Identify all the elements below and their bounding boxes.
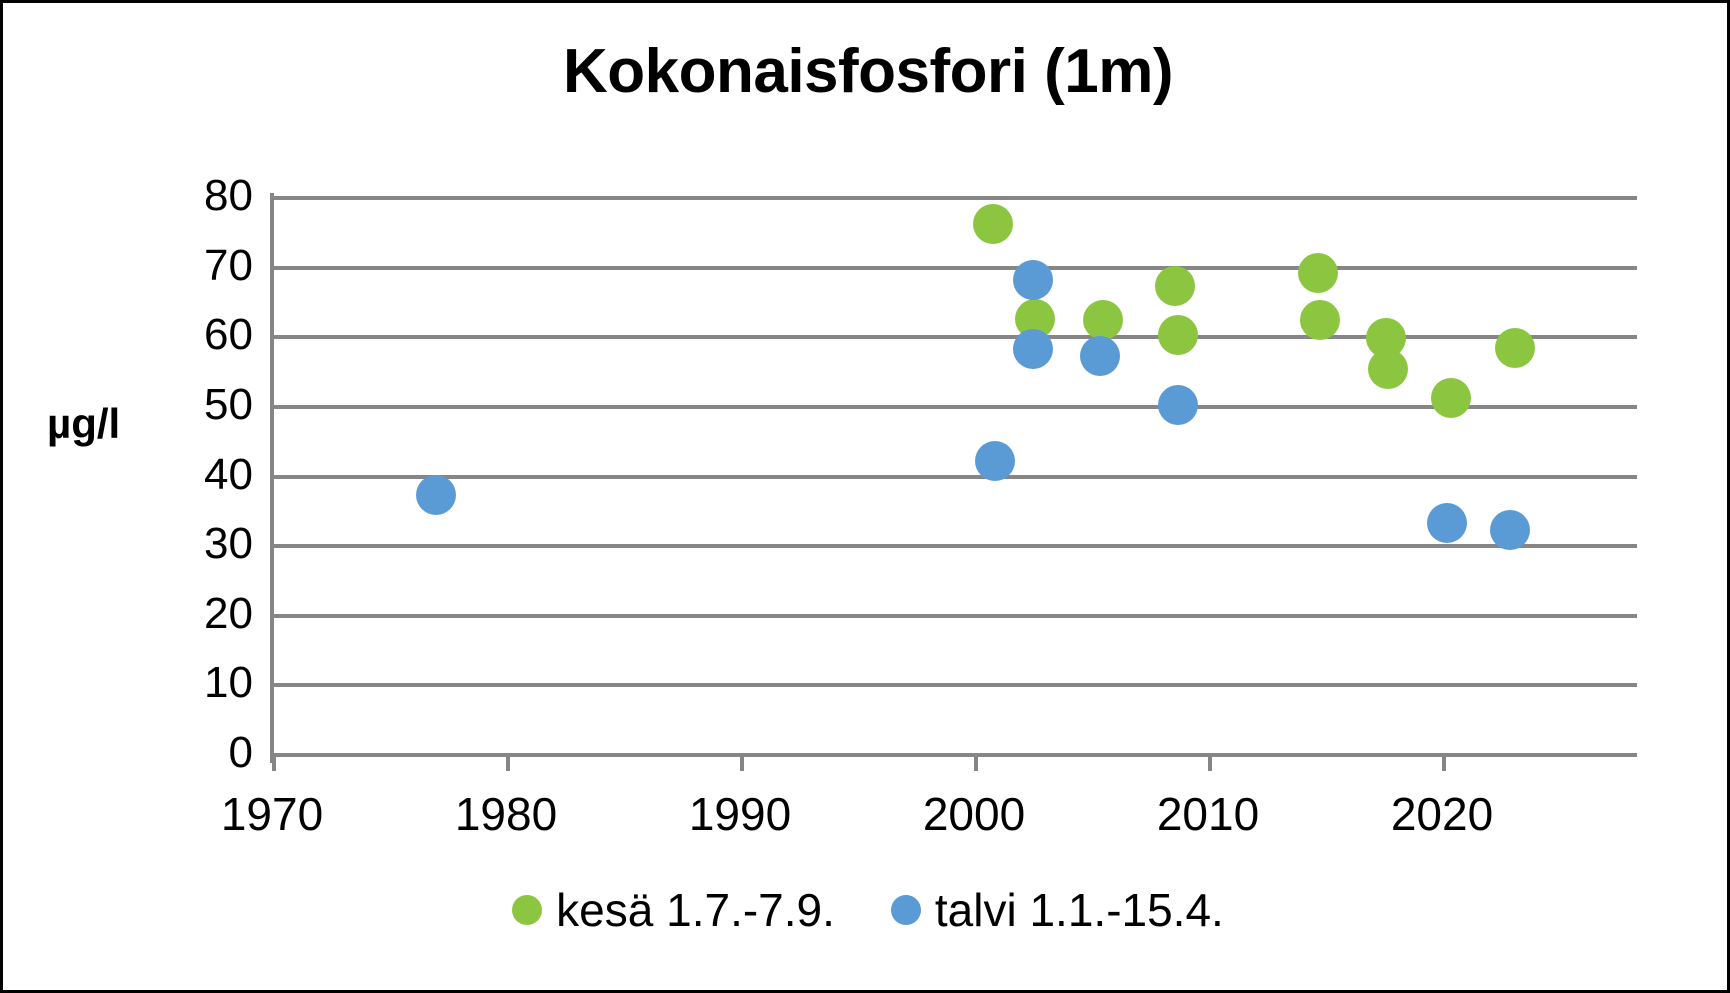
data-point xyxy=(1158,385,1198,425)
data-point xyxy=(1427,503,1467,543)
x-axis-tick xyxy=(740,753,744,771)
data-point xyxy=(1431,378,1471,418)
chart-title: Kokonaisfosfori (1m) xyxy=(3,41,1730,103)
x-axis-tick-label: 1980 xyxy=(396,791,616,837)
data-point xyxy=(1155,266,1195,306)
x-axis-tick-labels: 197019801990200020102020 xyxy=(272,791,1637,851)
x-axis-tick-label: 1970 xyxy=(162,791,382,837)
data-point xyxy=(1083,300,1123,340)
gridline xyxy=(272,683,1637,687)
x-axis-tick-label: 2000 xyxy=(864,791,1084,837)
x-axis-tick xyxy=(1208,753,1212,771)
data-point xyxy=(1080,336,1120,376)
data-point xyxy=(1013,260,1053,300)
gridline xyxy=(272,266,1637,270)
data-point xyxy=(1300,300,1340,340)
legend-marker-icon xyxy=(512,895,542,925)
data-point xyxy=(1490,510,1530,550)
x-axis-tick-label: 2020 xyxy=(1332,791,1552,837)
y-axis-title: µg/l xyxy=(47,403,120,445)
data-point xyxy=(1013,329,1053,369)
data-point xyxy=(975,441,1015,481)
data-point xyxy=(1158,315,1198,355)
x-axis-tick xyxy=(506,753,510,771)
x-axis-ticks xyxy=(272,753,1637,773)
gridline xyxy=(272,614,1637,618)
legend-item[interactable]: talvi 1.1.-15.4. xyxy=(891,887,1224,933)
y-axis-tick-label: 10 xyxy=(143,661,253,705)
y-axis-tick-label: 60 xyxy=(143,313,253,357)
x-axis-tick-label: 2010 xyxy=(1098,791,1318,837)
x-axis-tick xyxy=(974,753,978,771)
legend-label: kesä 1.7.-7.9. xyxy=(556,887,835,933)
y-axis-tick-label: 20 xyxy=(143,592,253,636)
gridline xyxy=(272,544,1637,548)
data-point xyxy=(973,204,1013,244)
data-point xyxy=(1495,328,1535,368)
y-axis-tick-label: 30 xyxy=(143,522,253,566)
chart-legend: kesä 1.7.-7.9.talvi 1.1.-15.4. xyxy=(3,887,1730,933)
legend-item[interactable]: kesä 1.7.-7.9. xyxy=(512,887,835,933)
gridline xyxy=(272,475,1637,479)
y-axis-tick-label: 70 xyxy=(143,244,253,288)
data-point xyxy=(416,475,456,515)
gridline xyxy=(272,335,1637,339)
data-point xyxy=(1298,253,1338,293)
data-point xyxy=(1368,349,1408,389)
x-axis-tick xyxy=(272,753,276,771)
plot-area xyxy=(272,196,1637,753)
legend-marker-icon xyxy=(891,895,921,925)
x-axis-tick-label: 1990 xyxy=(630,791,850,837)
x-axis-tick xyxy=(1442,753,1446,771)
y-axis-tick-label: 40 xyxy=(143,453,253,497)
gridline xyxy=(272,196,1637,200)
y-axis-tick-label: 50 xyxy=(143,383,253,427)
y-axis-tick-label: 0 xyxy=(143,731,253,775)
y-axis-tick-label: 80 xyxy=(143,174,253,218)
legend-label: talvi 1.1.-15.4. xyxy=(935,887,1224,933)
chart-page: Kokonaisfosfori (1m) µg/l 01020304050607… xyxy=(0,0,1730,993)
y-axis-tick-labels: 01020304050607080 xyxy=(113,196,253,753)
